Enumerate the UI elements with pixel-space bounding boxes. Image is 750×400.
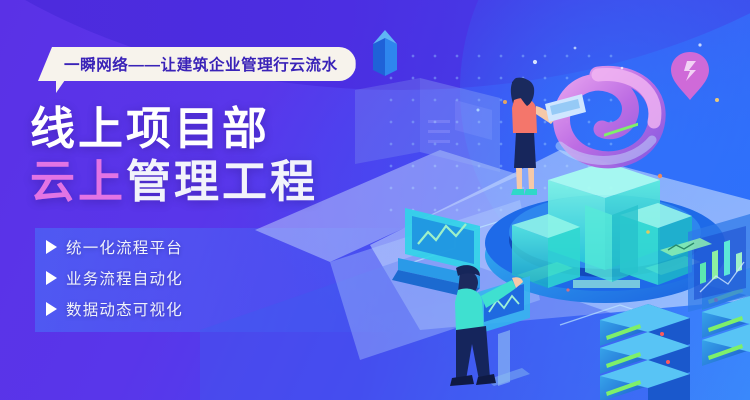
headline-accent: 云上 bbox=[30, 156, 126, 207]
feature-label-1: 统一化流程平台 bbox=[66, 236, 183, 258]
tagline-tail bbox=[56, 80, 65, 93]
triangle-bullet-icon bbox=[46, 240, 57, 254]
feature-item-3: 数据动态可视化 bbox=[46, 298, 183, 320]
headline-line-2: 云上管理工程 bbox=[30, 155, 318, 208]
tagline-text: 一瞬网络——让建筑企业管理行云流水 bbox=[64, 53, 338, 75]
headline-rest: 管理工程 bbox=[126, 156, 318, 207]
laptop-line-chart bbox=[392, 208, 480, 298]
feature-label-3: 数据动态可视化 bbox=[66, 298, 183, 320]
tagline-banner: 一瞬网络——让建筑企业管理行云流水 bbox=[38, 47, 356, 81]
feature-item-1: 统一化流程平台 bbox=[46, 236, 183, 258]
feature-label-2: 业务流程自动化 bbox=[66, 267, 183, 289]
headline-block: 线上项目部 云上管理工程 bbox=[30, 102, 318, 208]
feature-list: 统一化流程平台 业务流程自动化 数据动态可视化 bbox=[46, 236, 183, 329]
promo-banner: 一瞬网络——让建筑企业管理行云流水 线上项目部 云上管理工程 统一化流程平台 业… bbox=[0, 0, 750, 400]
dot-grid-decoration bbox=[380, 45, 630, 215]
triangle-bullet-icon bbox=[46, 302, 57, 316]
triangle-bullet-icon bbox=[46, 271, 57, 285]
feature-item-2: 业务流程自动化 bbox=[46, 267, 183, 289]
headline-line-1: 线上项目部 bbox=[30, 102, 318, 155]
